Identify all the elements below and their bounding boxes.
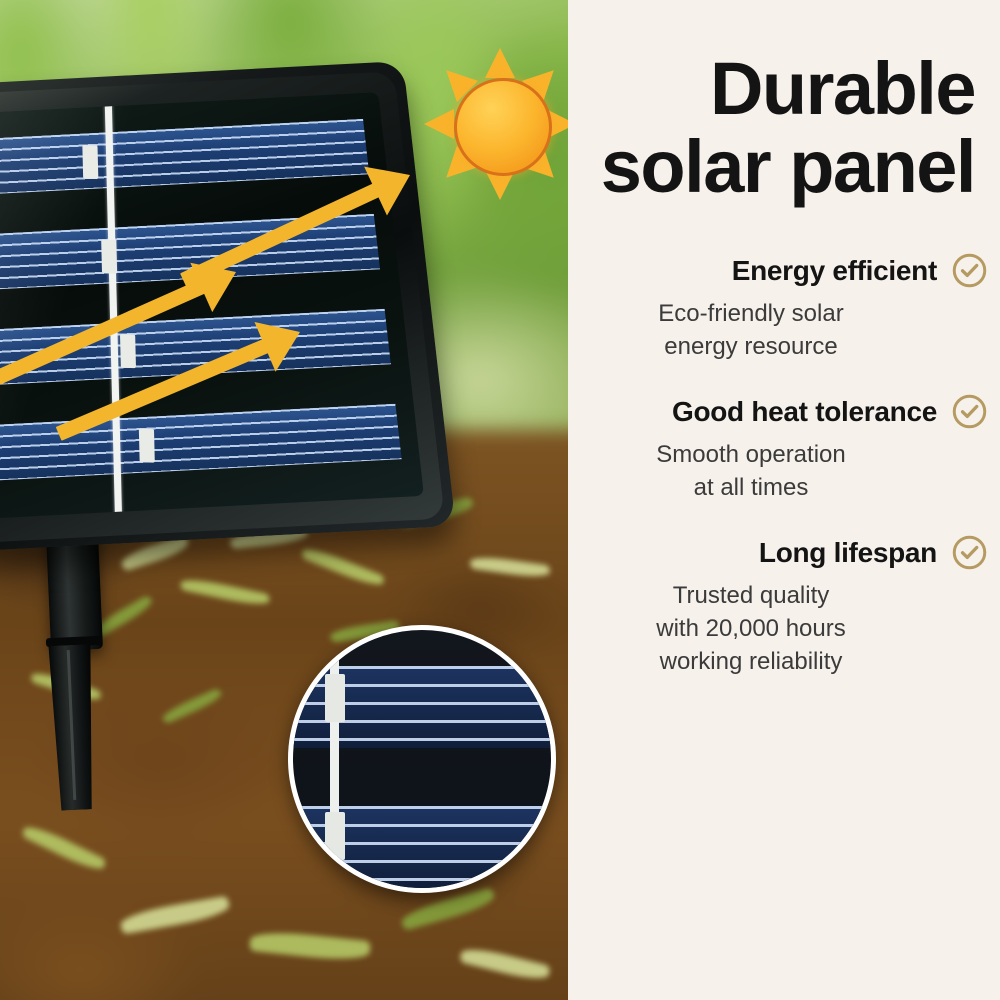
- feature-description-line: Trusted quality: [588, 579, 914, 612]
- feature-description-line: energy resource: [588, 330, 914, 363]
- closeup-busbar-tab: [325, 674, 345, 722]
- content-panel: Durable solar panel Energy efficient Eco…: [568, 0, 1000, 1000]
- feature-item-long-lifespan: Long lifespan Trusted quality with 20,00…: [588, 534, 988, 678]
- check-circle-icon: [951, 393, 988, 430]
- check-circle-icon: [951, 534, 988, 571]
- feature-description-line: Smooth operation: [588, 438, 914, 471]
- feature-description-line: with 20,000 hours: [588, 612, 914, 645]
- sun-ray: [424, 109, 454, 139]
- busbar-tab: [82, 145, 98, 179]
- feature-item-good-heat-tolerance: Good heat tolerance Smooth operation at …: [588, 393, 988, 504]
- feature-title: Energy efficient: [732, 255, 937, 287]
- headline-line-1: Durable: [710, 47, 975, 130]
- feature-list: Energy efficient Eco-friendly solar ener…: [588, 252, 988, 708]
- feature-header: Energy efficient: [588, 252, 988, 289]
- busbar-tab: [139, 429, 155, 463]
- feature-description: Smooth operation at all times: [588, 438, 988, 504]
- solar-cell-row: [0, 119, 369, 199]
- feature-description-line: Eco-friendly solar: [588, 297, 914, 330]
- closeup-busbar-tab: [325, 812, 345, 860]
- magnifier-closeup-circle: [288, 625, 556, 893]
- feature-header: Good heat tolerance: [588, 393, 988, 430]
- infographic-canvas: Durable solar panel Energy efficient Eco…: [0, 0, 1000, 1000]
- headline-line-2: solar panel: [585, 128, 975, 206]
- sun-disc: [454, 78, 552, 176]
- sun-ray: [485, 48, 515, 78]
- feature-header: Long lifespan: [588, 534, 988, 571]
- feature-title: Long lifespan: [759, 537, 937, 569]
- check-circle-icon: [951, 252, 988, 289]
- page-title: Durable solar panel: [585, 50, 975, 206]
- feature-description-line: at all times: [588, 471, 914, 504]
- sun-icon: [418, 42, 582, 206]
- feature-description: Eco-friendly solar energy resource: [588, 297, 988, 363]
- feature-description-line: working reliability: [588, 645, 914, 678]
- feature-item-energy-efficient: Energy efficient Eco-friendly solar ener…: [588, 252, 988, 363]
- busbar-tab: [101, 239, 117, 273]
- feature-description: Trusted quality with 20,000 hours workin…: [588, 579, 988, 678]
- feature-title: Good heat tolerance: [672, 396, 937, 428]
